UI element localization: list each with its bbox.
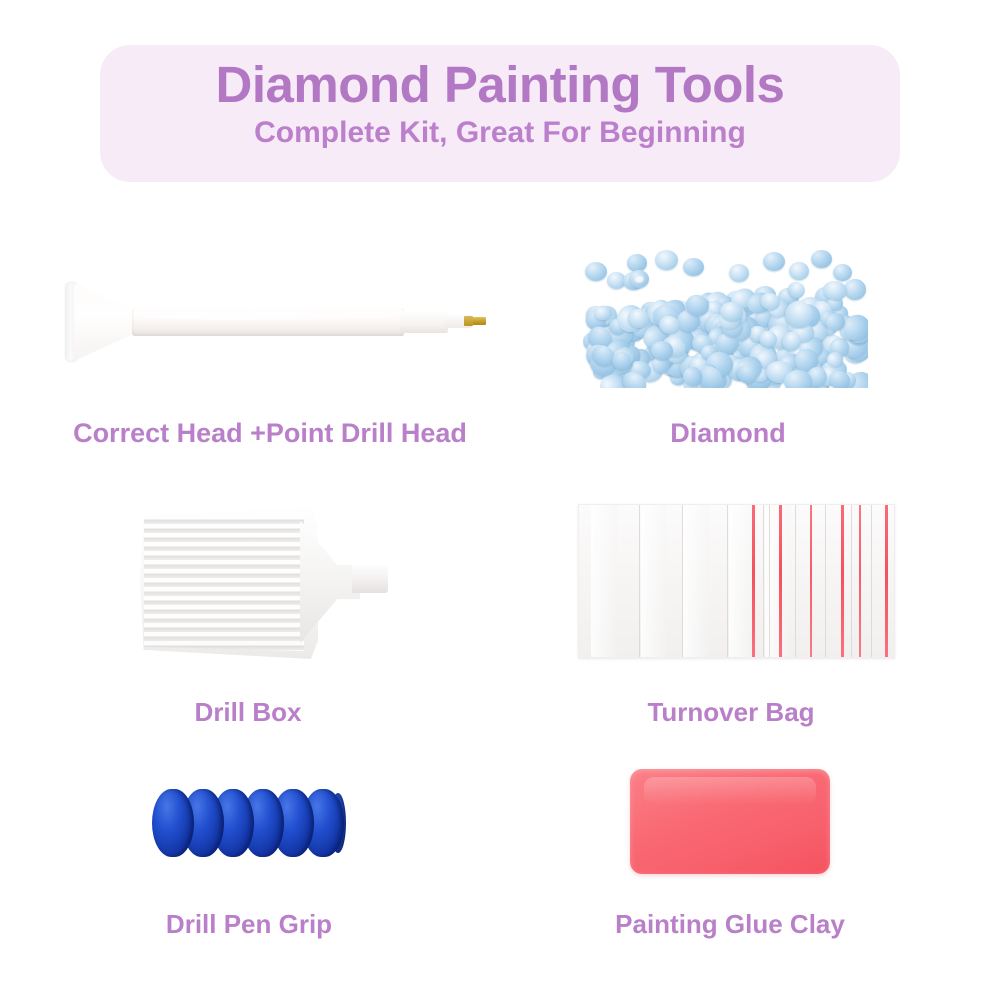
bag-fold-sheen bbox=[591, 505, 617, 657]
grip-rib bbox=[152, 789, 194, 857]
tray-spout bbox=[352, 565, 388, 593]
bag-fold-line bbox=[639, 505, 640, 657]
diamond-bead bbox=[763, 252, 785, 271]
bag-fold-line bbox=[769, 505, 770, 657]
bag-zip-stripe bbox=[752, 505, 755, 657]
page-subtitle: Complete Kit, Great For Beginning bbox=[254, 116, 746, 149]
pen-correct-head-flare bbox=[74, 283, 136, 361]
item-label-diamond: Diamond bbox=[670, 418, 786, 449]
bag-zip-stripe bbox=[779, 505, 782, 657]
pen-grip-photo bbox=[152, 789, 348, 859]
bag-fold-sheen bbox=[683, 505, 709, 657]
bag-fold-line bbox=[825, 505, 826, 657]
bag-zip-stripe bbox=[810, 505, 812, 657]
glue-clay-photo bbox=[630, 769, 830, 874]
item-label-turnover-bag: Turnover Bag bbox=[647, 697, 814, 728]
drill-pen-photo bbox=[60, 275, 485, 370]
bag-fold-line bbox=[682, 505, 683, 657]
item-label-correct-head-point-drill-head: Correct Head +Point Drill Head bbox=[73, 418, 467, 449]
bag-zip-stripe bbox=[885, 505, 888, 657]
diamond-bead bbox=[784, 370, 812, 388]
bag-fold-sheen bbox=[641, 505, 667, 657]
page-title: Diamond Painting Tools bbox=[216, 57, 785, 112]
pen-barrel bbox=[132, 308, 404, 336]
bag-fold-line bbox=[763, 505, 764, 657]
ziplock-bag-photo bbox=[578, 504, 895, 658]
pen-collar bbox=[400, 311, 448, 333]
diamond-bead bbox=[811, 250, 832, 268]
bag-fold-line bbox=[727, 505, 728, 657]
diamond-bead bbox=[729, 264, 749, 282]
item-label-drill-pen-grip: Drill Pen Grip bbox=[166, 909, 332, 940]
diamond-bead bbox=[833, 264, 852, 281]
product-infographic: Diamond Painting Tools Complete Kit, Gre… bbox=[0, 0, 1000, 1000]
diamond-bead bbox=[843, 278, 867, 301]
drill-tray-photo bbox=[140, 503, 390, 663]
item-label-painting-glue-clay: Painting Glue Clay bbox=[615, 909, 845, 940]
bag-zip-stripe bbox=[841, 505, 844, 657]
diamond-bead bbox=[683, 367, 702, 386]
header-banner: Diamond Painting Tools Complete Kit, Gre… bbox=[100, 45, 900, 182]
diamond-bead bbox=[683, 258, 704, 276]
tray-funnel bbox=[300, 521, 360, 643]
diamond-bead bbox=[789, 262, 809, 280]
item-label-drill-box: Drill Box bbox=[195, 697, 302, 728]
bag-fold-line bbox=[871, 505, 872, 657]
diamond-bead bbox=[585, 262, 607, 281]
diamond-beads-photo bbox=[583, 248, 868, 388]
bag-fold-line bbox=[795, 505, 796, 657]
pen-gold-tip-base bbox=[464, 316, 473, 326]
tray-grooves bbox=[144, 515, 304, 651]
diamond-bead bbox=[655, 250, 678, 270]
diamond-bead bbox=[629, 270, 649, 288]
bag-fold-line bbox=[851, 505, 852, 657]
bag-zip-stripe bbox=[859, 505, 861, 657]
